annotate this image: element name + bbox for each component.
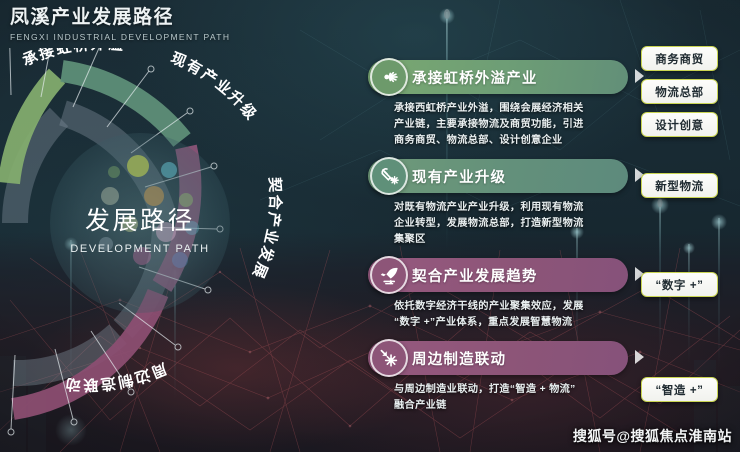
center-title-en: DEVELOPMENT PATH [70,243,209,255]
card-title: 承接虹桥外溢产业 [412,67,538,88]
tag-chip[interactable]: 新型物流 [641,173,718,198]
strategy-card[interactable]: 契合产业发展趋势 依托数字经济干线的产业聚集效应，发展 “数字 +”产业体系，重… [368,258,628,331]
card-desc-line: 融合产业链 [394,398,628,414]
tag-chip[interactable]: 商务商贸 [641,46,718,71]
strategy-card[interactable]: 周边制造联动 与周边制造业联动，打造“智造 + 物流” [368,341,628,414]
strategy-card[interactable]: 现有产业升级 对既有物流产业产业升级，利用现有物流 企业转型，发展物流总部，打造… [368,159,628,248]
card-description: 与周边制造业联动，打造“智造 + 物流” 融合产业链 [368,382,628,414]
card-desc-line: “数字 +”产业体系，重点发展智慧物流 [394,315,628,331]
strategy-card-list: 承接虹桥外溢产业 承接西虹桥产业外溢，围绕会展经济相关 产业链，主要承接物流及商… [368,60,628,422]
card-desc-line: 依托数字经济干线的产业聚集效应，发展 [394,299,628,315]
infographic-canvas: 凤溪产业发展路径 FENGXI INDUSTRIAL DEVELOPMENT P… [0,0,740,452]
rocket-trend-icon [370,256,408,294]
chevron-right-icon [635,350,644,364]
card-desc-line: 商务商贸、物流总部、设计创意企业 [394,133,628,149]
page-title-cn: 凤溪产业发展路径 [10,6,230,30]
card-description: 依托数字经济干线的产业聚集效应，发展 “数字 +”产业体系，重点发展智慧物流 [368,299,628,331]
tag-chip[interactable]: “数字 +” [641,272,718,297]
card-desc-line: 对既有物流产业产业升级，利用现有物流 [394,200,628,216]
radial-path-diagram: 承接虹桥外溢 现有产业升级 契合产业发展 周边制造联动 [0,48,350,448]
card-title: 周边制造联动 [412,348,506,369]
card-desc-line: 集聚区 [394,232,628,248]
card-desc-line: 与周边制造业联动，打造“智造 + 物流” [394,382,628,398]
page-header: 凤溪产业发展路径 FENGXI INDUSTRIAL DEVELOPMENT P… [10,6,230,43]
page-title-en: FENGXI INDUSTRIAL DEVELOPMENT PATH [10,32,230,43]
card-desc-line: 产业链，主要承接物流及商贸功能，引进 [394,117,628,133]
tag-chip[interactable]: 设计创意 [641,112,718,137]
arc-label-1: 现有产业升级 [168,49,261,124]
watermark: 搜狐号@搜狐焦点淮南站 [573,426,732,446]
card-desc-line: 企业转型，发展物流总部，打造新型物流 [394,216,628,232]
card-desc-line: 承接西虹桥产业外溢，围绕会展经济相关 [394,101,628,117]
wrench-gear-icon [370,157,408,195]
strategy-card[interactable]: 承接虹桥外溢产业 承接西虹桥产业外溢，围绕会展经济相关 产业链，主要承接物流及商… [368,60,628,149]
card-description: 对既有物流产业产业升级，利用现有物流 企业转型，发展物流总部，打造新型物流 集聚… [368,200,628,248]
tag-chip[interactable]: “智造 +” [641,377,718,402]
burst-rays-icon [370,58,408,96]
card-title: 现有产业升级 [412,166,506,187]
arc-label-2: 契合产业发展 [248,176,284,282]
card-description: 承接西虹桥产业外溢，围绕会展经济相关 产业链，主要承接物流及商贸功能，引进 商务… [368,101,628,149]
tag-chip[interactable]: 物流总部 [641,79,718,104]
center-title-cn: 发展路径 [85,207,195,235]
arrow-converge-icon [370,339,408,377]
card-title: 契合产业发展趋势 [412,265,538,286]
